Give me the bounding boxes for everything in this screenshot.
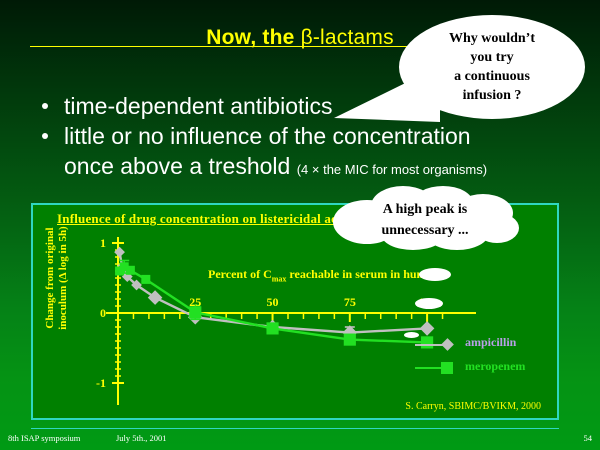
- bullet-text: once above a treshold: [64, 153, 290, 179]
- thought-bubble-text: A high peak is unnecessary ...: [325, 199, 525, 241]
- bullet-dot-icon: [42, 133, 48, 139]
- chart-data-point: [141, 275, 150, 284]
- footer-organization: 8th ISAP symposium: [8, 433, 80, 443]
- chart-data-point: [266, 322, 278, 334]
- chart-source-credit: S. Carryn, SBIMC/BVIKM, 2000: [405, 401, 541, 412]
- thought-bubble-dot-small: [404, 332, 419, 338]
- chart-data-point: [126, 266, 135, 275]
- bubble1-line4: infusion ?: [449, 86, 535, 105]
- thought-bubble-dot-large: [419, 268, 451, 281]
- bullet-text: time-dependent antibiotics: [64, 93, 333, 119]
- chart-x-tick-label: 50: [267, 295, 279, 309]
- thought-bubble-dot-medium: [415, 298, 443, 309]
- chart-x-tick-label: 75: [344, 295, 356, 309]
- list-item: once above a treshold (4 × the MIC for m…: [34, 152, 574, 184]
- bullet-subtext: (4 × the MIC for most organisms): [297, 162, 487, 177]
- bubble1-line1: Why wouldn’t: [449, 29, 535, 48]
- chart-y-tick-label: 0: [100, 306, 106, 320]
- speech-bubble-question: Why wouldn’t you try a continuous infusi…: [399, 15, 585, 119]
- bubble1-line2: you try: [449, 48, 535, 67]
- slide: Now, the β-lactams time-dependent antibi…: [0, 0, 600, 450]
- bubble1-line3: a continuous: [449, 67, 535, 86]
- chart-data-point: [148, 290, 163, 305]
- chart-legend: ampicillin meropenem: [415, 333, 545, 381]
- bubble2-line2: unnecessary ...: [325, 220, 525, 241]
- chart-data-point: [344, 334, 356, 346]
- chart-x-tick-label: 25: [189, 295, 201, 309]
- footer: 8th ISAP symposium July 5th., 2001 54: [0, 433, 600, 450]
- chart-y-tick-label: -1: [96, 376, 106, 390]
- chart-data-point: [114, 247, 125, 258]
- legend-item-ampicillin: ampicillin: [415, 333, 545, 357]
- footer-divider: [31, 428, 559, 429]
- speech-bubble-text: Why wouldn’t you try a continuous infusi…: [449, 29, 535, 105]
- footer-page-number: 54: [584, 433, 593, 443]
- legend-item-meropenem: meropenem: [415, 357, 545, 381]
- thought-bubble-comment: A high peak is unnecessary ...: [325, 186, 525, 250]
- chart-y-tick-label: 1: [100, 236, 106, 250]
- diamond-marker-icon: [441, 338, 454, 351]
- square-marker-icon: [441, 362, 453, 374]
- legend-label: meropenem: [465, 359, 525, 374]
- list-item: little or no influence of the concentrat…: [34, 122, 574, 151]
- bullet-dot-icon: [42, 103, 48, 109]
- footer-date: July 5th., 2001: [116, 433, 167, 443]
- bubble2-line1: A high peak is: [325, 199, 525, 220]
- legend-label: ampicillin: [465, 335, 516, 350]
